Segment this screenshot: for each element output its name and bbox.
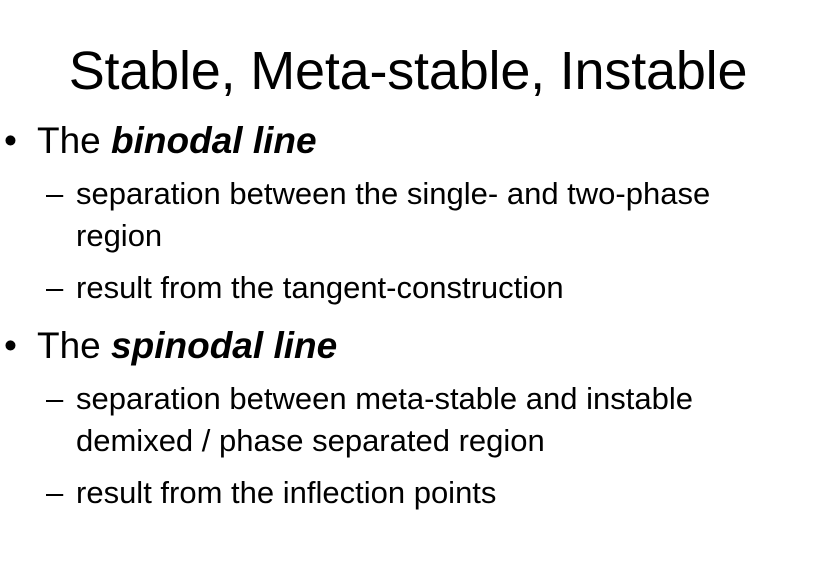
spacer [0, 163, 816, 173]
bullet-emphasis-text: spinodal line [111, 325, 337, 366]
bullet-level1-text: The spinodal line [37, 325, 337, 366]
bullet-dot-icon: • [4, 118, 28, 163]
bullet-level2-separation-meta-stable-instable[interactable]: – separation between meta-stable and ins… [0, 378, 816, 462]
bullet-level2-text: result from the inflection points [76, 472, 788, 514]
bullet-level2-tangent-construction[interactable]: – result from the tangent-construction [0, 267, 816, 309]
bullet-level2-text: separation between meta-stable and insta… [76, 378, 788, 462]
content-placeholder: • The binodal line – separation between … [0, 118, 816, 514]
bullet-level2-inflection-points[interactable]: – result from the inflection points [0, 472, 816, 514]
en-dash-icon: – [46, 173, 76, 215]
en-dash-icon: – [46, 267, 76, 309]
bullet-level2-text: separation between the single- and two-p… [76, 173, 788, 257]
bullet-lead-text: The [37, 325, 111, 366]
bullet-dot-icon: • [4, 323, 28, 368]
en-dash-icon: – [46, 378, 76, 420]
slide-canvas: Stable, Meta-stable, Instable • The bino… [0, 0, 816, 568]
en-dash-icon: – [46, 472, 76, 514]
bullet-level1-spinodal[interactable]: • The spinodal line [0, 323, 816, 368]
spacer [0, 309, 816, 323]
bullet-level2-separation-single-two-phase[interactable]: – separation between the single- and two… [0, 173, 816, 257]
spacer [0, 462, 816, 472]
bullet-emphasis-text: binodal line [111, 120, 317, 161]
bullet-level1-text: The binodal line [37, 120, 317, 161]
bullet-level2-text: result from the tangent-construction [76, 267, 788, 309]
spacer [0, 257, 816, 267]
bullet-lead-text: The [37, 120, 111, 161]
spacer [0, 368, 816, 378]
page-title: Stable, Meta-stable, Instable [0, 40, 816, 102]
bullet-level1-binodal[interactable]: • The binodal line [0, 118, 816, 163]
